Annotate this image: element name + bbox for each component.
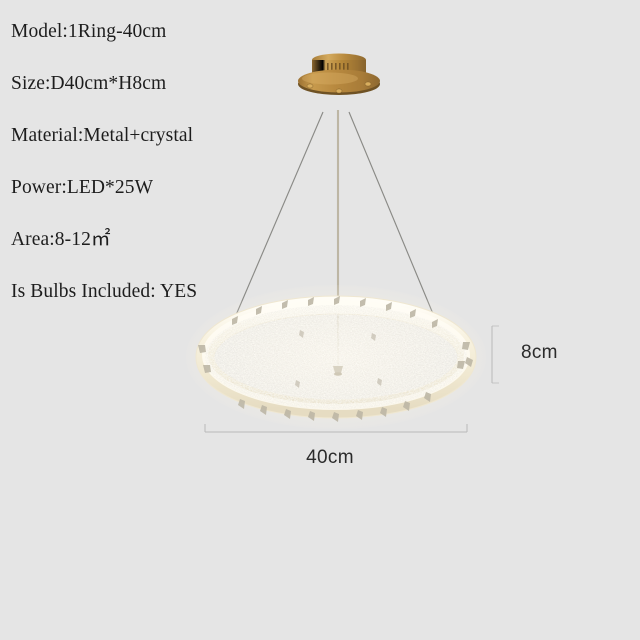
dimension-width-label: 40cm xyxy=(306,447,354,469)
chandelier-illustration xyxy=(0,0,640,640)
dimension-height-label: 8cm xyxy=(521,342,558,364)
ring-center-fitting xyxy=(333,366,343,376)
product-spec-image: Model:1Ring-40cm Size:D40cm*H8cm Materia… xyxy=(0,0,640,640)
crystal-ring xyxy=(186,285,486,429)
canopy-disc-sheen xyxy=(302,73,358,85)
ceiling-canopy xyxy=(298,54,380,96)
dim-height-bracket xyxy=(492,326,499,383)
